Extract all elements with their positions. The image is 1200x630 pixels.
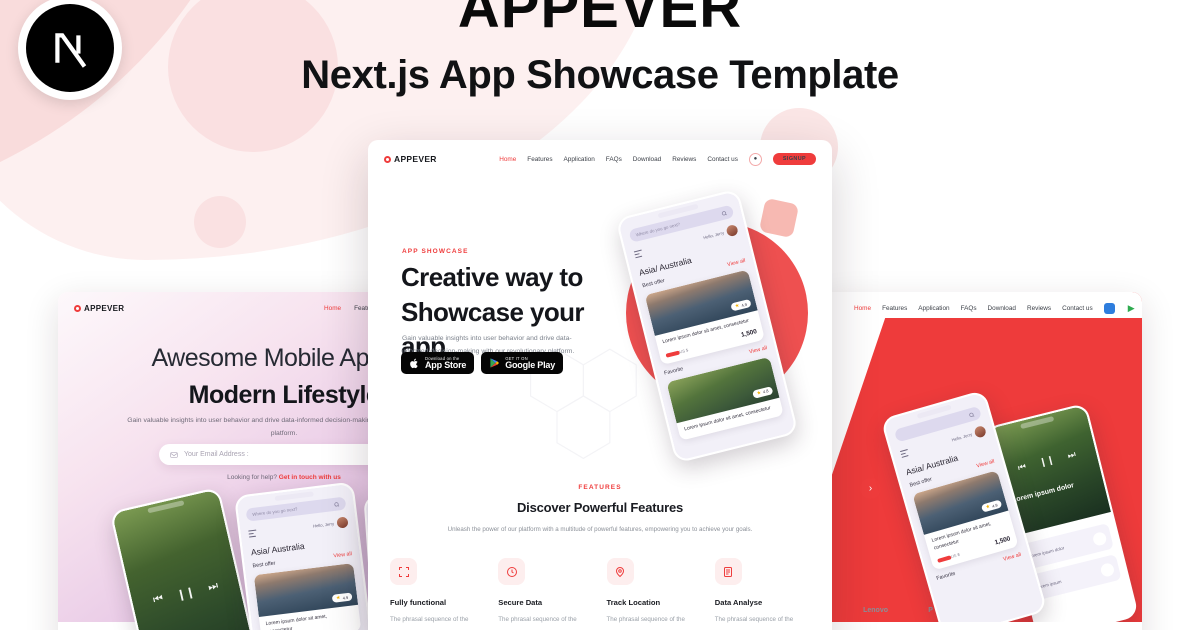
nextjs-glyph <box>35 13 105 83</box>
left-phone-search-placeholder: Where do you go next? <box>252 506 298 516</box>
search-icon[interactable] <box>968 411 975 418</box>
center-nav-reviews[interactable]: Reviews <box>672 156 696 163</box>
right-phone-section-label: Best offer <box>909 477 933 489</box>
center-features-section: FEATURES Discover Powerful Features Unle… <box>368 470 832 626</box>
right-nav-download[interactable]: Download <box>988 305 1016 312</box>
star-icon: ★ <box>756 389 762 396</box>
search-icon[interactable] <box>721 209 728 216</box>
search-icon[interactable] <box>333 501 340 508</box>
page-title: APPEVER <box>0 0 1200 39</box>
feature-card-track-location[interactable]: Track Location The phrasal sequence of t… <box>607 558 702 625</box>
google-play-badge-icon[interactable]: ▶ <box>1126 303 1137 314</box>
right-nav-contact[interactable]: Contact us <box>1062 305 1093 312</box>
center-website-mockup: APPEVER Home Features Application FAQs D… <box>368 140 832 630</box>
left-help-link[interactable]: Get in touch with us <box>279 474 341 481</box>
skip-back-icon[interactable]: ⏮ <box>1017 461 1028 474</box>
mail-icon <box>170 451 178 459</box>
clock-shield-icon <box>498 558 525 585</box>
center-nav-home[interactable]: Home <box>499 156 516 163</box>
feature-body: The phrasal sequence of the <box>607 614 702 625</box>
right-nav-application[interactable]: Application <box>918 305 949 312</box>
play-icon <box>489 357 500 369</box>
center-nav-contact[interactable]: Contact us <box>707 156 738 163</box>
right-phone-view-all[interactable]: View all <box>976 459 995 470</box>
feature-body: The phrasal sequence of the <box>498 614 593 625</box>
left-phone-listing-screen: Where do you go next? Hello, Jerry Asia/… <box>236 484 376 630</box>
google-play-labels: GET IT ON Google Play <box>505 356 555 370</box>
right-website-mockup: Home Features Application FAQs Download … <box>822 292 1142 630</box>
center-store-buttons: Download on the App Store GET IT ON Goog… <box>401 352 563 374</box>
google-play-main-label: Google Play <box>505 361 555 370</box>
listing-price: 1,500 <box>994 535 1011 546</box>
listing-tag <box>937 555 952 563</box>
right-phone-greeting: Hello, Jerry <box>951 432 973 443</box>
center-hero-section: APPEVER Home Features Application FAQs D… <box>368 140 832 470</box>
hamburger-icon[interactable] <box>900 449 909 458</box>
feature-name: Data Analyse <box>715 598 810 607</box>
list-item[interactable]: ★4.9 Lorem ipsum dolor sit amet, consect… <box>912 470 1018 570</box>
hamburger-icon[interactable] <box>248 530 257 537</box>
listing-price: 1,500 <box>740 328 757 339</box>
left-logo-text: APPEVER <box>84 304 124 313</box>
left-phone-listing: Where do you go next? Hello, Jerry Asia/… <box>234 481 378 630</box>
feature-card-fully-functional[interactable]: Fully functional The phrasal sequence of… <box>390 558 485 625</box>
expand-icon <box>390 558 417 585</box>
center-logo-text: APPEVER <box>394 154 437 164</box>
feature-body: The phrasal sequence of the <box>715 614 810 625</box>
center-phone-favorite-view-all[interactable]: View all <box>748 345 767 355</box>
google-play-button[interactable]: GET IT ON Google Play <box>481 352 563 374</box>
center-nav-features[interactable]: Features <box>527 156 552 163</box>
center-hero-eyebrow: APP SHOWCASE <box>402 248 469 255</box>
features-eyebrow: FEATURES <box>368 484 832 491</box>
center-phone-section-label: Best offer <box>642 278 666 289</box>
star-icon: ★ <box>985 504 991 511</box>
right-phone-favorite-view-all[interactable]: View all <box>1003 552 1022 563</box>
rating-value: 4.9 <box>741 301 748 307</box>
features-description: Unleash the power of our platform with a… <box>368 524 832 536</box>
left-phone-userbar: Hello, Jerry <box>248 516 349 539</box>
google-play-top-label: GET IT ON <box>505 356 555 361</box>
location-pin-icon <box>607 558 634 585</box>
rating-badge: ★4.9 <box>981 499 1002 512</box>
center-navbar: APPEVER Home Features Application FAQs D… <box>368 140 832 170</box>
app-store-button[interactable]: Download on the App Store <box>401 352 474 374</box>
feature-body: The phrasal sequence of the <box>390 614 485 625</box>
center-nav-download[interactable]: Download <box>633 156 661 163</box>
nextjs-logo-badge <box>18 0 122 100</box>
avatar[interactable] <box>973 425 987 439</box>
nextjs-logo-icon <box>26 4 114 92</box>
right-nav-home[interactable]: Home <box>854 305 871 312</box>
right-nav-faqs[interactable]: FAQs <box>961 305 977 312</box>
listing-currency: US $ <box>679 347 689 354</box>
left-nav-home[interactable]: Home <box>324 305 341 312</box>
brand-lenovo: Lenovo <box>860 607 888 614</box>
center-phone-favorite-label: Favorite <box>663 366 683 377</box>
star-icon: ★ <box>734 303 740 310</box>
center-phone-search-placeholder: Where do you go next? <box>635 222 680 238</box>
right-nav-links: Home Features Application FAQs Download … <box>854 303 1137 314</box>
left-phone-section-label: Best offer <box>252 561 276 570</box>
rating-value: 4.9 <box>342 594 348 600</box>
background-circle-small <box>194 196 246 248</box>
feature-card-data-analyse[interactable]: Data Analyse The phrasal sequence of the <box>715 558 810 625</box>
logo-mark-icon <box>384 156 391 163</box>
left-phone-app-body: Where do you go next? Hello, Jerry Asia/… <box>236 484 376 630</box>
app-store-main-label: App Store <box>425 361 466 370</box>
left-phone-greeting: Hello, Jerry <box>313 521 335 529</box>
right-nav-reviews[interactable]: Reviews <box>1027 305 1051 312</box>
center-logo[interactable]: APPEVER <box>384 154 437 164</box>
signup-button[interactable]: SIGNUP <box>773 153 816 165</box>
center-nav-faqs[interactable]: FAQs <box>606 156 622 163</box>
star-icon: ★ <box>336 595 341 602</box>
poster-stage: APPEVER Home Features Application FAQs D… <box>0 0 1200 630</box>
features-cards: Fully functional The phrasal sequence of… <box>368 536 832 625</box>
left-email-placeholder: Your Email Address : <box>184 451 249 458</box>
database-icon <box>715 558 742 585</box>
list-item[interactable]: ★4.9 Lorem ipsum dolor sit amet, consect… <box>254 563 362 630</box>
rating-badge: ★4.9 <box>332 592 353 602</box>
app-store-badge-icon[interactable] <box>1104 303 1115 314</box>
avatar[interactable] <box>336 516 348 528</box>
paypal-icon: P <box>928 607 933 614</box>
right-hero-cta-button[interactable]: › <box>860 478 881 499</box>
center-nav-application[interactable]: Application <box>564 156 595 163</box>
feature-card-secure-data[interactable]: Secure Data The phrasal sequence of the <box>498 558 593 625</box>
page-subtitle: Next.js App Showcase Template <box>0 53 1200 98</box>
features-title: Discover Powerful Features <box>368 500 832 515</box>
feature-name: Secure Data <box>498 598 593 607</box>
left-help-label: Looking for help? <box>227 474 279 481</box>
center-nav-links: Home Features Application FAQs Download … <box>499 153 816 166</box>
skip-back-icon[interactable]: ⏮ <box>152 592 165 607</box>
app-store-top-label: Download on the <box>425 356 466 361</box>
user-icon[interactable]: ● <box>749 153 762 166</box>
listing-tag <box>665 350 680 357</box>
poster-header: APPEVER Next.js App Showcase Template <box>0 0 1200 98</box>
left-phone-view-all[interactable]: View all <box>333 551 352 559</box>
apple-icon <box>409 357 420 370</box>
app-store-labels: Download on the App Store <box>425 356 466 370</box>
listing-currency: US $ <box>950 552 960 559</box>
avatar[interactable] <box>725 224 738 237</box>
feature-name: Track Location <box>607 598 702 607</box>
left-phone-listing-notch <box>275 491 315 501</box>
right-hero-section: Home Features Application FAQs Download … <box>822 292 1142 622</box>
hamburger-icon[interactable] <box>634 250 643 258</box>
right-nav-features[interactable]: Features <box>882 305 907 312</box>
right-phone-favorite-label: Favorite <box>936 571 956 582</box>
center-phone-greeting: Hello, Jerry <box>703 230 725 240</box>
center-phone-view-all[interactable]: View all <box>727 258 746 268</box>
right-navbar: Home Features Application FAQs Download … <box>822 292 1142 318</box>
rating-badge: ★4.9 <box>730 299 751 312</box>
logo-mark-icon <box>74 305 81 312</box>
feature-name: Fully functional <box>390 598 485 607</box>
skip-forward-icon[interactable]: ⏭ <box>207 580 220 595</box>
skip-forward-icon[interactable]: ⏭ <box>1066 449 1077 462</box>
left-logo[interactable]: APPEVER <box>74 304 124 313</box>
hero-pink-square <box>759 198 799 238</box>
rating-badge: ★4.8 <box>752 386 773 399</box>
